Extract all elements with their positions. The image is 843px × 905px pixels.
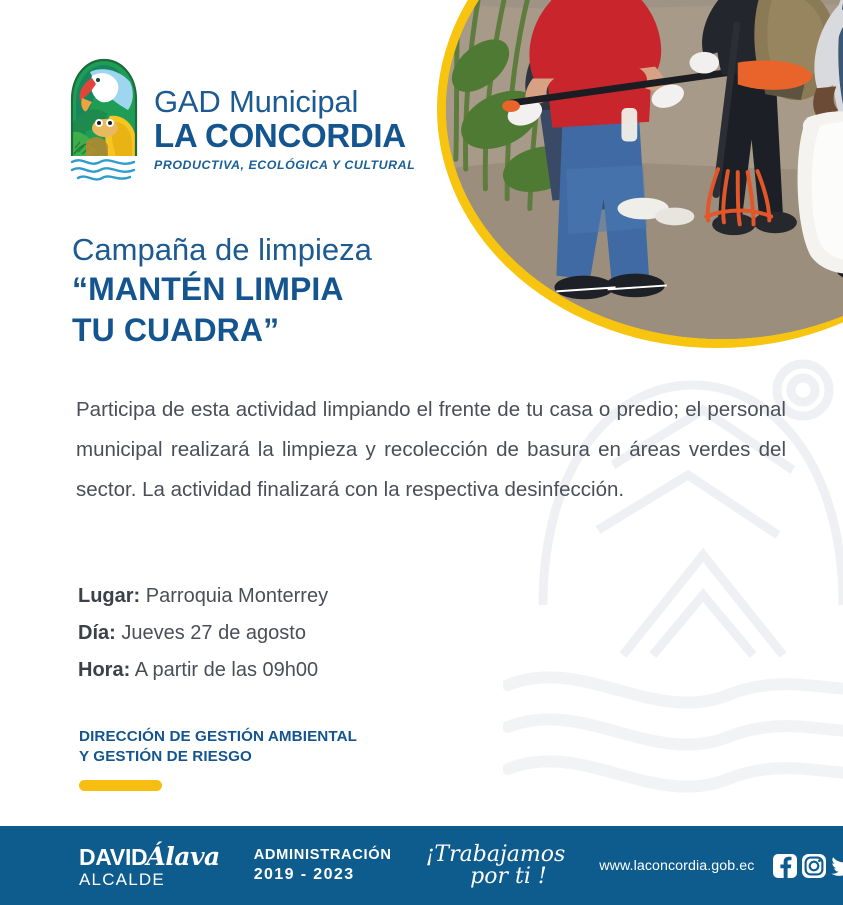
headline-line-2: “MANTÉN LIMPIA bbox=[72, 270, 372, 310]
administration-block: ADMINISTRACIÓN 2019 - 2023 bbox=[254, 846, 392, 884]
campaign-description: Participa de esta actividad limpiando el… bbox=[76, 390, 786, 510]
detail-label-day: Día: bbox=[78, 622, 116, 644]
detail-value-time: A partir de las 09h00 bbox=[135, 659, 318, 681]
campaign-photo bbox=[437, 0, 843, 348]
instagram-icon[interactable] bbox=[801, 853, 827, 879]
org-line-1: GAD Municipal bbox=[154, 86, 415, 117]
org-slogan: PRODUCTIVA, ECOLÓGICA Y CULTURAL bbox=[154, 158, 415, 172]
campaign-photo-image bbox=[446, 0, 843, 339]
footer-slogan: ¡Trabajamos por ti ! bbox=[426, 844, 566, 887]
facebook-icon[interactable] bbox=[772, 853, 798, 879]
headline-line-1: Campaña de limpieza bbox=[72, 233, 372, 268]
detail-row-place: Lugar: Parroquia Monterrey bbox=[78, 578, 328, 615]
detail-value-place: Parroquia Monterrey bbox=[146, 585, 328, 607]
municipal-emblem-icon bbox=[68, 56, 140, 182]
administration-years: 2019 - 2023 bbox=[254, 865, 392, 885]
department-credit: DIRECCIÓN DE GESTIÓN AMBIENTAL Y GESTIÓN… bbox=[79, 727, 357, 791]
org-line-2: LA CONCORDIA bbox=[154, 118, 415, 154]
detail-row-day: Día: Jueves 27 de agosto bbox=[78, 615, 328, 652]
detail-value-day: Jueves 27 de agosto bbox=[121, 622, 306, 644]
website-url[interactable]: www.laconcordia.gob.ec bbox=[599, 858, 754, 874]
detail-label-place: Lugar: bbox=[78, 585, 140, 607]
social-links bbox=[772, 853, 843, 879]
logo-wordmark: GAD Municipal LA CONCORDIA PRODUCTIVA, E… bbox=[154, 56, 415, 172]
event-details: Lugar: Parroquia Monterrey Día: Jueves 2… bbox=[78, 578, 328, 689]
detail-row-time: Hora: A partir de las 09h00 bbox=[78, 652, 328, 689]
detail-label-time: Hora: bbox=[78, 659, 130, 681]
mayor-first-name: DAVID bbox=[79, 846, 147, 869]
department-line-2: Y GESTIÓN DE RIESGO bbox=[79, 747, 357, 767]
twitter-icon[interactable] bbox=[830, 853, 843, 879]
footer-slogan-line-2: por ti ! bbox=[426, 866, 566, 888]
mayor-signature: DAVID Álava ALCALDE bbox=[79, 844, 220, 888]
mayor-role: ALCALDE bbox=[79, 871, 220, 888]
footer-bar: DAVID Álava ALCALDE ADMINISTRACIÓN 2019 … bbox=[0, 826, 843, 905]
campaign-headline: Campaña de limpieza “MANTÉN LIMPIA TU CU… bbox=[72, 233, 372, 351]
headline-line-3: TU CUADRA” bbox=[72, 311, 372, 351]
mayor-last-name: Álava bbox=[146, 844, 219, 869]
department-line-1: DIRECCIÓN DE GESTIÓN AMBIENTAL bbox=[79, 727, 357, 747]
poster-canvas: GAD Municipal LA CONCORDIA PRODUCTIVA, E… bbox=[0, 0, 843, 905]
administration-label: ADMINISTRACIÓN bbox=[254, 846, 392, 864]
municipal-logo: GAD Municipal LA CONCORDIA PRODUCTIVA, E… bbox=[68, 56, 415, 182]
accent-bar bbox=[79, 780, 162, 791]
